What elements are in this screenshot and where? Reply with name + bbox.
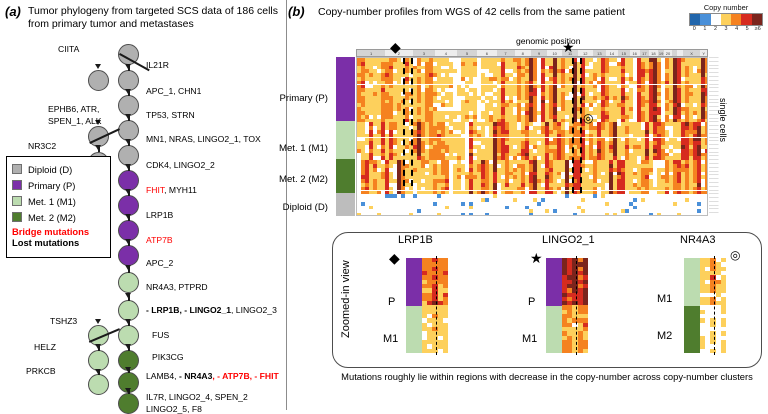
phylo-arrow xyxy=(125,344,131,349)
marker-circle-icon: ◎ xyxy=(583,112,593,124)
legend-label-bridge-mutations: Bridge mutations xyxy=(12,226,110,237)
zoom-gene-label-nr4a3: NR4A3 xyxy=(680,234,715,246)
colorbar-segment-0 xyxy=(690,14,700,25)
mutation-fhit: FHIT xyxy=(146,185,164,195)
phylo-node-diploid-2 xyxy=(118,70,139,91)
heatmap-group-color-strip xyxy=(336,57,355,216)
phylo-arrow xyxy=(125,214,131,219)
heatmap-group-label-primary: Primary (P) xyxy=(248,93,328,104)
zoom-heat-lrp1b xyxy=(406,258,460,353)
zoom-sublabel-lingo2-top: P xyxy=(528,296,535,308)
colorbar-segment-2 xyxy=(711,14,721,25)
zoom-strip-bottom xyxy=(546,306,562,354)
chromosome-tick-9: 9 xyxy=(531,50,547,56)
cell-id-label: ———— xyxy=(709,186,719,189)
heatmap-highlight-lingo2-2 xyxy=(580,58,582,193)
phylo-arrow xyxy=(125,89,131,94)
phylo-arrow xyxy=(125,293,131,298)
zoom-heatmap-row xyxy=(562,349,588,353)
mutation-label-atp7b: ATP7B xyxy=(146,235,173,245)
chromosome-tick-1: 1 xyxy=(357,50,385,56)
phylo-node-met1-2 xyxy=(118,300,139,321)
phylo-arrow xyxy=(95,319,101,324)
phylo-node-helz-branch xyxy=(88,350,109,371)
colorbar-segment-3 xyxy=(721,14,731,25)
phylo-arrow xyxy=(125,239,131,244)
chromosome-tick-16: 16 xyxy=(630,50,640,56)
mutation-label-apc1-chn1: APC_1, CHN1 xyxy=(146,86,201,96)
chromosome-tick-4: 4 xyxy=(435,50,457,56)
colorbar-segment-5 xyxy=(741,14,751,25)
mutation-label-il7r: IL7R, LINGO2_4, SPEN_2 xyxy=(146,392,248,402)
cell-id-label: ———— xyxy=(709,167,719,170)
mutation-lost-lrp1b: - LRP1B xyxy=(146,305,179,315)
legend-label-met1: Met. 1 (M1) xyxy=(28,196,76,207)
colorbar-gradient xyxy=(689,13,763,26)
zoom-sublabel-lrp1b-top: P xyxy=(388,296,395,308)
mutation-label-lrp1b: LRP1B xyxy=(146,210,173,220)
legend-swatch-met1-icon xyxy=(12,196,22,206)
mutation-label-ephb6: EPHB6, ATR, xyxy=(48,104,99,114)
zoom-heatmap-cell xyxy=(443,349,448,353)
mutation-label-helz: HELZ xyxy=(34,342,56,352)
mutation-label-spen1-alk: SPEN_1, ALK xyxy=(48,116,102,126)
single-cells-axis-label: single cells xyxy=(718,98,728,142)
legend-label-lost-mutations: Lost mutations xyxy=(12,237,110,248)
zoom-dash-nr4a3 xyxy=(714,256,715,355)
zoom-marker-diamond-icon: ◆ xyxy=(389,251,400,265)
panel-a-title: Tumor phylogeny from targeted SCS data o… xyxy=(28,5,278,31)
zoom-strip-bottom xyxy=(684,306,700,354)
phylo-node-primary-4 xyxy=(118,245,139,266)
phylo-node-diploid-4 xyxy=(118,120,139,141)
phylo-arrow xyxy=(125,114,131,119)
chromosome-tick-7: 7 xyxy=(497,50,515,56)
chromosome-tick-18: 18 xyxy=(649,50,658,56)
zoom-heatmap xyxy=(562,258,588,353)
mutation-lingo2-3: , LINGO2_3 xyxy=(231,305,277,315)
marker-diamond-icon: ◆ xyxy=(390,40,401,54)
mutation-label-cdk4: CDK4, LINGO2_2 xyxy=(146,160,215,170)
panel-b-letter: (b) xyxy=(288,4,305,19)
legend-swatch-met2-icon xyxy=(12,212,22,222)
mutation-label-lost-set-1: - LRP1B, - LINGO2_1, LINGO2_3 xyxy=(146,305,277,315)
copy-number-heatmap xyxy=(336,57,708,216)
phylo-arrow xyxy=(125,265,131,270)
chromosome-tick-Y: Y xyxy=(700,50,707,56)
phylo-arrow xyxy=(125,367,131,372)
mutation-label-tp53-strn: TP53, STRN xyxy=(146,110,195,120)
phylo-arrow xyxy=(95,145,101,150)
cell-id-label: ———— xyxy=(709,61,719,64)
phylo-arrow xyxy=(125,139,131,144)
phylo-node-diploid-3 xyxy=(118,95,139,116)
phylo-arrow xyxy=(95,64,101,69)
colorbar-tick: 1 xyxy=(700,26,711,32)
heatmap-highlight-lrp1b xyxy=(403,58,405,186)
mutation-lost-nr4a3: - NR4A3 xyxy=(179,371,212,381)
chromosome-tick-19: 19 xyxy=(658,50,665,56)
phylo-arrow xyxy=(125,189,131,194)
phylo-arrow xyxy=(125,64,131,69)
heatmap-cell xyxy=(705,213,708,216)
chromosome-tick-12: 12 xyxy=(578,50,593,56)
panel-b-caption: Mutations roughly lie within regions wit… xyxy=(332,371,762,383)
legend-item-met2: Met. 2 (M2) xyxy=(12,209,110,225)
group-strip-primary-p- xyxy=(336,57,355,121)
heatmap-canvas xyxy=(356,57,708,216)
chromosome-tick-13: 13 xyxy=(593,50,606,56)
colorbar-ticks: 012345≥6 xyxy=(689,26,763,32)
chromosome-tick-X: X xyxy=(683,50,701,56)
zoom-dash-lingo2 xyxy=(576,256,577,355)
chromosome-tick-14: 14 xyxy=(606,50,618,56)
zoom-group-color-strip xyxy=(546,258,562,353)
group-strip-met-1-m1- xyxy=(336,121,355,159)
zoom-gene-label-lrp1b: LRP1B xyxy=(398,234,433,246)
panel-a-phylogeny: (a) Tumor phylogeny from targeted SCS da… xyxy=(0,0,286,410)
colorbar-tick: 3 xyxy=(721,26,732,32)
mutation-label-ciita: CIITA xyxy=(58,44,79,54)
legend-swatch-primary-icon xyxy=(12,180,22,190)
mutation-label-fus: FUS xyxy=(152,330,169,340)
zoom-dash-lrp1b xyxy=(436,256,437,355)
colorbar-segment-≥6 xyxy=(752,14,762,25)
heatmap-group-label-met2: Met. 2 (M2) xyxy=(248,174,328,185)
mutation-lost-atp7b-fhit: , - ATP7B, - FHIT xyxy=(212,371,278,381)
chromosome-tick-20: 20 xyxy=(664,50,671,56)
heatmap-group-label-diploid: Diploid (D) xyxy=(248,202,328,213)
mutation-label-nr4a3-ptprd: NR4A3, PTPRD xyxy=(146,282,208,292)
cell-id-label: ———— xyxy=(709,212,719,215)
phylo-node-met2-3 xyxy=(118,393,139,414)
zoom-heat-nr4a3 xyxy=(684,258,738,353)
heatmap-highlight-lingo2 xyxy=(572,58,574,193)
heatmap-group-label-met1: Met. 1 (M1) xyxy=(248,143,328,154)
legend-swatch-diploid-icon xyxy=(12,164,22,174)
figure-root: (a) Tumor phylogeny from targeted SCS da… xyxy=(0,0,768,410)
colorbar-tick: 0 xyxy=(689,26,700,32)
zoom-sublabel-lingo2-bottom: M1 xyxy=(522,333,537,345)
zoom-strip-bottom xyxy=(406,306,422,354)
chromosome-tick-6: 6 xyxy=(477,50,496,56)
mutation-label-prkcb: PRKCB xyxy=(26,366,56,376)
phylo-node-primary-1 xyxy=(118,170,139,191)
legend-item-diploid: Diploid (D) xyxy=(12,161,110,177)
mutation-lamb4: LAMB4, xyxy=(146,371,179,381)
cell-id-label: ———— xyxy=(709,80,719,83)
group-strip-met-2-m2- xyxy=(336,159,355,193)
zoom-sublabel-lrp1b-bottom: M1 xyxy=(383,333,398,345)
colorbar-tick: 5 xyxy=(742,26,753,32)
zoom-group-color-strip xyxy=(406,258,422,353)
phylo-arrow xyxy=(95,369,101,374)
mutation-label-apc2: APC_2 xyxy=(146,258,173,268)
group-strip-diploid-d- xyxy=(336,193,355,216)
colorbar-segment-1 xyxy=(700,14,710,25)
zoom-strip-top xyxy=(406,258,422,306)
heatmap-highlight-lrp1b-2 xyxy=(411,58,413,186)
mutation-label-lamb4-set: LAMB4, - NR4A3, - ATP7B, - FHIT xyxy=(146,371,279,381)
phylo-node-primary-3 xyxy=(118,220,139,241)
chromosome-axis: 1234567891011121314151617181920XY xyxy=(356,49,708,57)
zoom-group-color-strip xyxy=(684,258,700,353)
copy-number-colorbar: Copy number 012345≥6 xyxy=(686,3,766,32)
zoom-heat-lingo2-1 xyxy=(546,258,600,353)
colorbar-tick: 2 xyxy=(710,26,721,32)
mutation-myh11: , MYH11 xyxy=(164,185,197,195)
zoom-heatmap xyxy=(700,258,726,353)
mutation-label-mn1: MN1, NRAS, LINGO2_1, TOX xyxy=(146,134,261,144)
zoom-strip-top xyxy=(546,258,562,306)
chromosome-tick-10: 10 xyxy=(547,50,562,56)
phylo-arrow xyxy=(125,319,131,324)
colorbar-tick: 4 xyxy=(731,26,742,32)
zoom-gene-label-lingo2-1: LINGO2_1 xyxy=(542,234,595,246)
chromosome-tick-5: 5 xyxy=(457,50,477,56)
phylo-node-diploid-5 xyxy=(118,145,139,166)
mutation-label-fhit-myh11: FHIT, MYH11 xyxy=(146,185,197,195)
zoom-sublabel-nr4a3-bottom: M2 xyxy=(657,330,672,342)
phylo-node-ciita-branch xyxy=(88,70,109,91)
legend-label-diploid: Diploid (D) xyxy=(28,164,72,175)
phylo-arrow xyxy=(125,388,131,393)
legend-item-primary: Primary (P) xyxy=(12,177,110,193)
marker-star-icon: ★ xyxy=(562,40,575,54)
colorbar-tick: ≥6 xyxy=(752,26,763,32)
zoom-sublabel-nr4a3-top: M1 xyxy=(657,293,672,305)
legend-label-met2: Met. 2 (M2) xyxy=(28,212,76,223)
panel-a-letter: (a) xyxy=(5,4,21,19)
chromosome-tick-3: 3 xyxy=(413,50,435,56)
mutation-label-lingo2-5-f8: LINGO2_5, F8 xyxy=(146,404,202,414)
mutation-label-tshz3: TSHZ3 xyxy=(50,316,77,326)
colorbar-segment-4 xyxy=(731,14,741,25)
phylo-node-met1-3 xyxy=(118,325,139,346)
mutation-label-nr3c2: NR3C2 xyxy=(28,141,56,151)
phylo-node-prkcb-branch xyxy=(88,374,109,395)
heatmap-row xyxy=(357,213,707,216)
colorbar-title: Copy number xyxy=(686,3,766,12)
phylo-node-met1-1 xyxy=(118,272,139,293)
mutation-lost-lingo2-1: , - LINGO2_1 xyxy=(179,305,231,315)
zoomed-in-view-axis-label: Zoomed-in view xyxy=(340,260,352,338)
zoom-heatmap-row xyxy=(422,349,448,353)
panel-b-title: Copy-number profiles from WGS of 42 cell… xyxy=(318,6,698,19)
chromosome-tick-8: 8 xyxy=(515,50,532,56)
chromosome-tick-15: 15 xyxy=(618,50,630,56)
zoom-heatmap-cell xyxy=(721,349,726,353)
zoom-heatmap-cell xyxy=(583,349,588,353)
zoom-marker-star-icon: ★ xyxy=(530,251,543,265)
zoom-heatmap-row xyxy=(700,349,726,353)
legend-label-primary: Primary (P) xyxy=(28,180,75,191)
mutation-label-il21r: IL21R xyxy=(146,60,169,70)
chromosome-tick-17: 17 xyxy=(640,50,649,56)
phylo-arrow xyxy=(95,344,101,349)
phylogeny-legend: Diploid (D) Primary (P) Met. 1 (M1) Met.… xyxy=(6,156,111,258)
phylo-arrow xyxy=(125,164,131,169)
mutation-label-pik3cg: PIK3CG xyxy=(152,352,184,362)
zoom-heatmap xyxy=(422,258,448,353)
legend-item-met1: Met. 1 (M1) xyxy=(12,193,110,209)
zoom-strip-top xyxy=(684,258,700,306)
phylo-node-primary-2 xyxy=(118,195,139,216)
